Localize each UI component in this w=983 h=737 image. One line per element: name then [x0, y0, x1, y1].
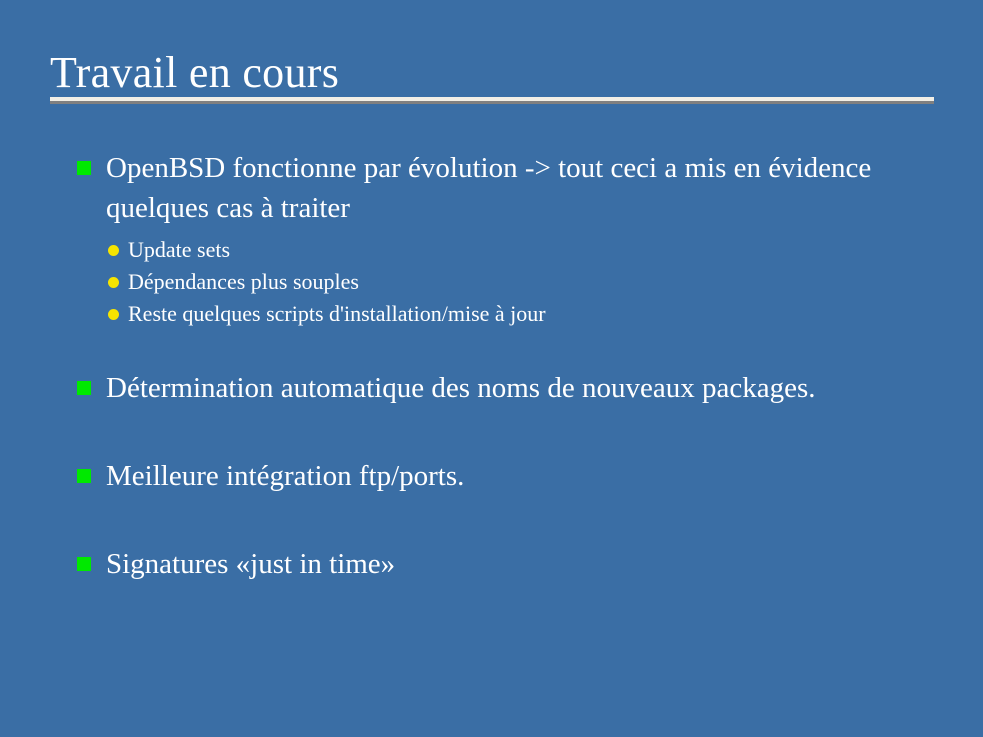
- presentation-slide: Travail en cours OpenBSD fonctionne par …: [0, 0, 983, 737]
- list-item: Dépendances plus souples: [106, 266, 936, 298]
- square-bullet-icon: [77, 161, 91, 175]
- square-bullet-icon: [77, 469, 91, 483]
- square-bullet-icon: [77, 381, 91, 395]
- spacer: [76, 330, 936, 368]
- list-item-label: Update sets: [128, 237, 230, 262]
- dot-bullet-icon: [108, 309, 119, 320]
- list-item: Meilleure intégration ftp/ports.: [76, 456, 936, 496]
- list-item-label: OpenBSD fonctionne par évolution -> tout…: [106, 148, 896, 228]
- list-item: Signatures «just in time»: [76, 544, 936, 584]
- page-title: Travail en cours: [50, 48, 934, 98]
- list-item: Détermination automatique des noms de no…: [76, 368, 936, 408]
- list-item-label: Signatures «just in time»: [106, 544, 896, 584]
- square-bullet-icon: [77, 557, 91, 571]
- title-underline-shadow: [50, 101, 934, 104]
- dot-bullet-icon: [108, 245, 119, 256]
- list-item-label: Dépendances plus souples: [128, 269, 359, 294]
- list-item-label: Détermination automatique des noms de no…: [106, 368, 896, 408]
- dot-bullet-icon: [108, 277, 119, 288]
- sub-bullet-list: Update sets Dépendances plus souples Res…: [76, 234, 936, 330]
- list-item-label: Reste quelques scripts d'installation/mi…: [128, 301, 546, 326]
- list-item: OpenBSD fonctionne par évolution -> tout…: [76, 148, 936, 228]
- list-item: Reste quelques scripts d'installation/mi…: [106, 298, 936, 330]
- spacer: [76, 496, 936, 544]
- title-block: Travail en cours: [50, 48, 934, 98]
- spacer: [76, 408, 936, 456]
- bullet-list: OpenBSD fonctionne par évolution -> tout…: [76, 148, 936, 584]
- list-item-label: Meilleure intégration ftp/ports.: [106, 456, 896, 496]
- list-item: Update sets: [106, 234, 936, 266]
